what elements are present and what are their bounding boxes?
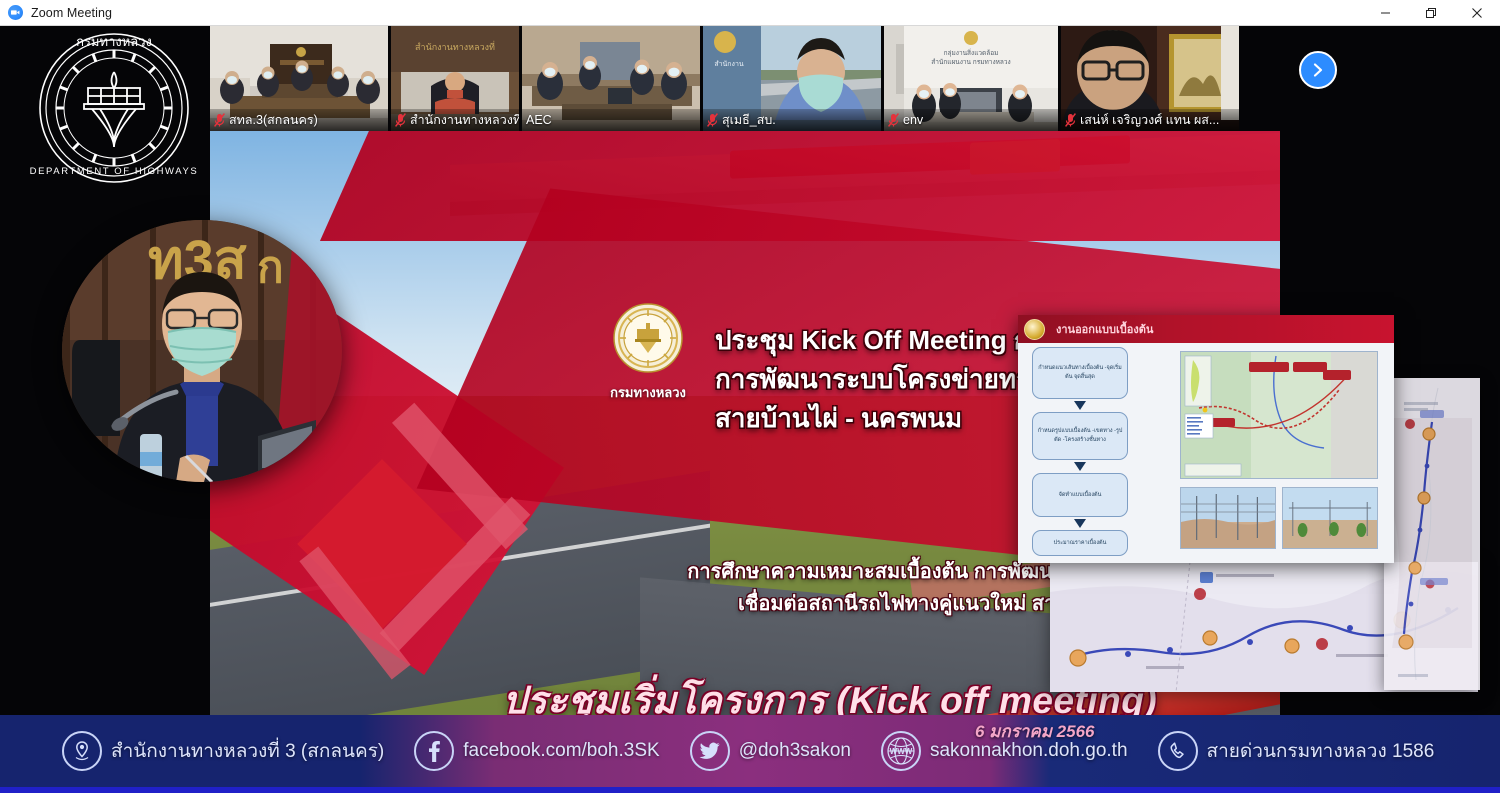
participant-label: สทล.3(สกลนคร): [210, 109, 388, 131]
window-titlebar: Zoom Meeting: [0, 0, 1500, 26]
footer-item-office: สำนักงานทางหลวงที่ 3 (สกลนคร): [62, 731, 384, 771]
participant-name: เสน่ห์ เจริญวงศ์ แทน ผส...: [1080, 110, 1219, 130]
participant-name: env: [903, 113, 923, 127]
location-pin-icon: [62, 731, 102, 771]
minimize-button[interactable]: [1362, 0, 1408, 26]
svg-text:สำนักงาน: สำนักงาน: [714, 60, 744, 68]
svg-text:DEPARTMENT OF HIGHWAYS: DEPARTMENT OF HIGHWAYS: [30, 166, 199, 177]
footer-facebook-text: facebook.com/boh.3SK: [463, 740, 659, 762]
participant-thumbnail[interactable]: กลุ่มงานสิ่งแวดล้อม สำนักแผนงาน กรมทางหล…: [884, 26, 1058, 131]
mute-icon: [214, 113, 225, 127]
cross-section-photo-2: [1282, 487, 1378, 549]
footer-twitter-text: @doh3sakon: [739, 740, 851, 762]
flow-step-4: ประมาณราคาเบื้องต้น: [1032, 530, 1128, 556]
footer-item-twitter[interactable]: @doh3sakon: [690, 731, 851, 771]
facebook-icon: [414, 731, 454, 771]
doh-seal-gold-icon: [613, 303, 683, 373]
doh-seal-watermark: กรมทางหลวง DEPARTMENT OF HIGHWAYS: [22, 26, 207, 184]
svg-text:กลุ่มงานสิ่งแวดล้อม: กลุ่มงานสิ่งแวดล้อม: [944, 48, 999, 57]
flow-step-1: กำหนดแนวเส้นทางเบื้องต้น -จุดเริ่มต้น จุ…: [1032, 347, 1128, 399]
flow-step-2: กำหนดรูปแบบเบื้องต้น -เขตทาง -รูปตัด -โค…: [1032, 412, 1128, 460]
overlay-route-map-panel[interactable]: [1384, 378, 1480, 690]
svg-text:WWW: WWW: [890, 747, 913, 756]
chevron-right-icon: [1310, 62, 1326, 78]
flow-arrow-down-icon: [1074, 401, 1086, 410]
overlay-flowchart-window[interactable]: งานออกแบบเบื้องต้น กำหนดแนวเส้นทางเบื้อง…: [1018, 315, 1394, 563]
globe-www-icon: WWW: [881, 731, 921, 771]
participant-thumbnail[interactable]: สำนักงาน: [703, 26, 881, 131]
mute-icon: [707, 113, 718, 127]
overlay-flowchart-steps: กำหนดแนวเส้นทางเบื้องต้น -จุดเริ่มต้น จุ…: [1032, 347, 1128, 556]
slide-org-logo-caption: กรมทางหลวง: [602, 382, 694, 403]
flow-arrow-down-icon: [1074, 519, 1086, 528]
slide-date-stamp: 6 มกราคม 2566: [975, 718, 1094, 745]
twitter-icon: [690, 731, 730, 771]
svg-text:สำนักงานทางหลวงที่: สำนักงานทางหลวงที่: [415, 40, 495, 52]
overlay-cross-section-photos: [1180, 487, 1378, 549]
close-button[interactable]: [1454, 0, 1500, 26]
footer-hotline-text: สายด่วนกรมทางหลวง 1586: [1207, 736, 1435, 766]
mute-icon: [888, 113, 899, 127]
participant-name: สทล.3(สกลนคร): [229, 110, 318, 130]
participant-name: AEC: [526, 113, 552, 127]
participant-thumbnail[interactable]: สทล.3(สกลนคร): [210, 26, 388, 131]
filmstrip-next-page-button[interactable]: [1299, 51, 1337, 89]
footer-office-text: สำนักงานทางหลวงที่ 3 (สกลนคร): [111, 736, 384, 766]
doh-seal-icon: [1024, 319, 1045, 340]
footer-item-hotline: สายด่วนกรมทางหลวง 1586: [1158, 731, 1435, 771]
meeting-stage: กรมทางหลวง ประชุม Kick Off Meeting การศึ…: [0, 26, 1500, 793]
participant-name: สุเมธี_สบ.: [722, 110, 776, 130]
mute-icon: [1065, 113, 1076, 127]
footer-item-facebook[interactable]: facebook.com/boh.3SK: [414, 731, 659, 771]
participant-label: เสน่ห์ เจริญวงศ์ แทน ผส...: [1061, 109, 1239, 131]
flow-arrow-down-icon: [1074, 462, 1086, 471]
participant-label: สำนักงานทางหลวงที่ 8 ม...: [391, 109, 519, 131]
slide-footer-contact-bar: สำนักงานทางหลวงที่ 3 (สกลนคร) facebook.c…: [0, 715, 1500, 793]
participant-thumbnail[interactable]: สำนักงานทางหลวงที่ สำนักงานทางหลวงที่ 8 …: [391, 26, 519, 131]
participant-label: env: [884, 109, 1058, 131]
phone-icon: [1158, 731, 1198, 771]
svg-text:สำนักแผนงาน กรมทางหลวง: สำนักแผนงาน กรมทางหลวง: [931, 58, 1010, 66]
mute-icon: [395, 113, 406, 127]
window-title: Zoom Meeting: [31, 6, 112, 20]
participant-label: สุเมธี_สบ.: [703, 109, 881, 131]
participant-filmstrip: สทล.3(สกลนคร) สำนักงานทางหลวงที่: [210, 26, 1242, 131]
active-speaker-video[interactable]: ท3ส ก: [62, 220, 342, 482]
svg-text:กรมทางหลวง: กรมทางหลวง: [76, 34, 152, 49]
overlay-flowchart-header: งานออกแบบเบื้องต้น: [1018, 315, 1394, 343]
slide-org-logo: กรมทางหลวง: [602, 303, 694, 403]
participant-thumbnail-active[interactable]: AEC: [522, 26, 700, 131]
participant-name: สำนักงานทางหลวงที่ 8 ม...: [410, 110, 519, 130]
zoom-meeting-window: Zoom Meeting: [0, 0, 1500, 793]
participant-thumbnail[interactable]: เสน่ห์ เจริญวงศ์ แทน ผส...: [1061, 26, 1239, 131]
zoom-icon: [8, 5, 23, 20]
cross-section-photo-1: [1180, 487, 1276, 549]
overlay-route-map-thumbnail: [1180, 351, 1378, 479]
svg-text:ก: ก: [257, 243, 284, 292]
participant-label: AEC: [522, 109, 700, 131]
restore-button[interactable]: [1408, 0, 1454, 26]
overlay-flowchart-title: งานออกแบบเบื้องต้น: [1056, 320, 1153, 338]
flow-step-3: จัดทำแบบเบื้องต้น: [1032, 473, 1128, 517]
